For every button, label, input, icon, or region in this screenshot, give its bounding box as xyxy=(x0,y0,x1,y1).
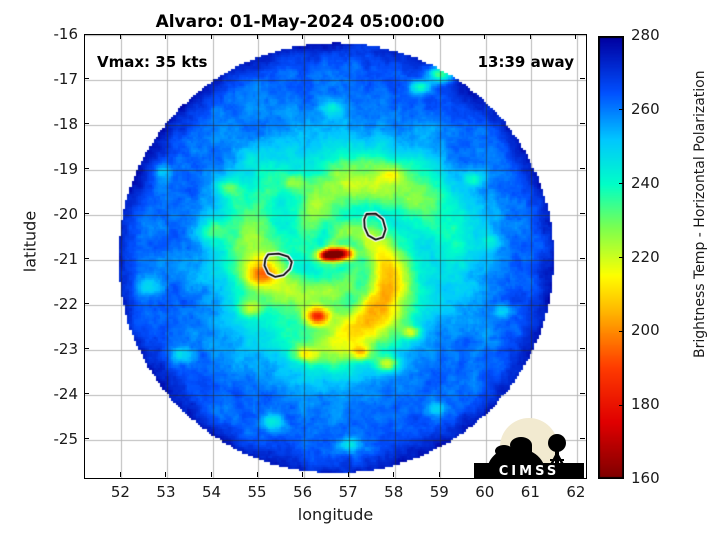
y-tick-right xyxy=(580,348,585,349)
colorbar-tick xyxy=(619,109,624,110)
x-axis-label: longitude xyxy=(84,505,587,524)
plot-area[interactable]: Vmax: 35 kts 13:39 away xyxy=(84,34,587,479)
page-title: Alvaro: 01-May-2024 05:00:00 xyxy=(0,12,600,32)
y-tick xyxy=(84,78,89,79)
colorbar-tick-label: 260 xyxy=(631,100,660,118)
y-tick-label: -18 xyxy=(32,115,78,133)
x-tick-top xyxy=(484,34,485,39)
y-tick-label: -16 xyxy=(32,25,78,43)
time-away-annotation: 13:39 away xyxy=(478,53,574,71)
y-tick xyxy=(84,213,89,214)
colorbar-tick-label: 200 xyxy=(631,321,660,339)
colorbar-tick xyxy=(619,331,624,332)
x-tick xyxy=(120,472,121,477)
x-tick-label: 62 xyxy=(556,483,596,501)
y-tick xyxy=(84,123,89,124)
x-tick-label: 58 xyxy=(374,483,414,501)
x-tick-top xyxy=(302,34,303,39)
y-tick-right xyxy=(580,213,585,214)
y-tick xyxy=(84,393,89,394)
x-tick-top xyxy=(530,34,531,39)
colorbar-tick xyxy=(619,405,624,406)
x-tick-top xyxy=(348,34,349,39)
y-tick xyxy=(84,438,89,439)
y-axis-label: latitude xyxy=(21,182,40,302)
cimss-logo: CIMSS xyxy=(474,417,584,479)
colorbar-tick xyxy=(619,257,624,258)
colorbar-tick-label: 180 xyxy=(631,395,660,413)
y-tick xyxy=(84,348,89,349)
colorbar-tick-label: 220 xyxy=(631,248,660,266)
y-tick xyxy=(84,303,89,304)
y-tick-right xyxy=(580,393,585,394)
x-tick-label: 52 xyxy=(100,483,140,501)
x-tick-label: 55 xyxy=(237,483,277,501)
y-tick xyxy=(84,258,89,259)
colorbar-tick-label: 280 xyxy=(631,26,660,44)
colorbar-label: Brightness Temp - Horizontal Polarizatio… xyxy=(692,158,708,358)
x-tick-top xyxy=(120,34,121,39)
x-tick-label: 61 xyxy=(510,483,550,501)
y-tick xyxy=(84,168,89,169)
x-tick-label: 57 xyxy=(328,483,368,501)
x-tick xyxy=(211,472,212,477)
vmax-annotation: Vmax: 35 kts xyxy=(97,53,207,71)
x-tick-top xyxy=(393,34,394,39)
y-tick-label: -25 xyxy=(32,430,78,448)
y-tick-right xyxy=(580,78,585,79)
brightness-temperature-heatmap xyxy=(85,35,586,478)
x-tick-label: 59 xyxy=(419,483,459,501)
x-tick xyxy=(348,472,349,477)
x-tick-top xyxy=(257,34,258,39)
y-tick-label: -19 xyxy=(32,160,78,178)
x-tick-top xyxy=(165,34,166,39)
x-tick-label: 54 xyxy=(192,483,232,501)
y-tick-right xyxy=(580,168,585,169)
cimss-logo-text: CIMSS xyxy=(499,464,559,479)
y-tick-label: -17 xyxy=(32,70,78,88)
x-tick xyxy=(165,472,166,477)
y-tick-label: -24 xyxy=(32,385,78,403)
y-tick-right xyxy=(580,303,585,304)
x-tick-top xyxy=(211,34,212,39)
x-tick xyxy=(302,472,303,477)
y-tick-right xyxy=(580,34,585,35)
x-tick-top xyxy=(439,34,440,39)
microwave-satellite-figure: Alvaro: 01-May-2024 05:00:00 Vmax: 35 kt… xyxy=(0,0,720,540)
colorbar-tick-label: 240 xyxy=(631,174,660,192)
x-tick xyxy=(393,472,394,477)
colorbar-tick xyxy=(619,183,624,184)
colorbar-tick-label: 160 xyxy=(631,469,660,487)
y-tick-label: -23 xyxy=(32,340,78,358)
x-tick xyxy=(257,472,258,477)
x-tick-label: 60 xyxy=(465,483,505,501)
y-tick-right xyxy=(580,258,585,259)
x-tick xyxy=(439,472,440,477)
x-tick-label: 56 xyxy=(283,483,323,501)
x-tick-label: 53 xyxy=(146,483,186,501)
x-tick-top xyxy=(575,34,576,39)
y-tick-right xyxy=(580,123,585,124)
y-tick xyxy=(84,34,89,35)
